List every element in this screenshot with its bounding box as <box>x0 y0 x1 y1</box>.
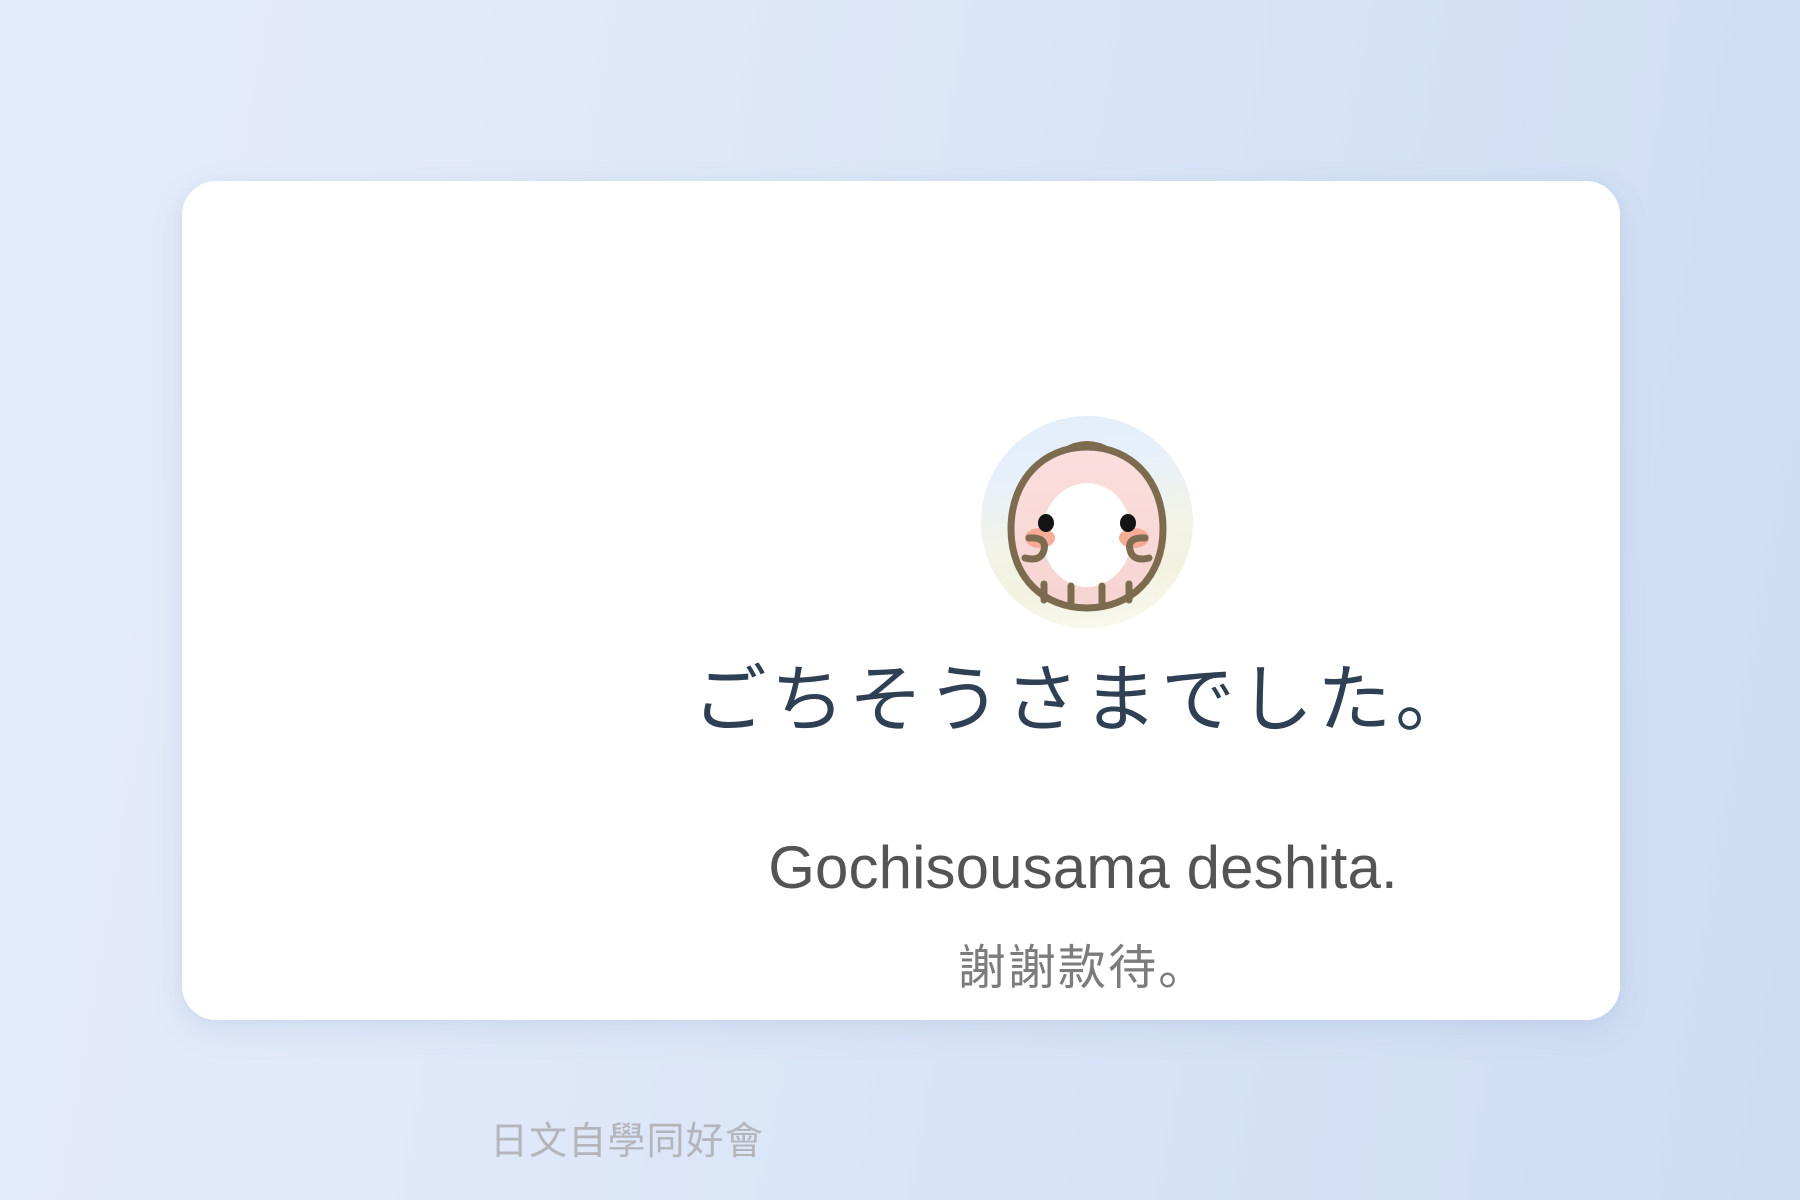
romaji-transliteration: Gochisousama deshita. <box>364 838 1800 898</box>
phrase-card: ごちそうさまでした。 Gochisousama deshita. 謝謝款待。 日… <box>182 181 1620 1020</box>
pink-blob-character-icon <box>981 416 1193 628</box>
avatar <box>981 416 1193 628</box>
eye-left <box>1038 514 1054 532</box>
japanese-phrase: ごちそうさまでした。 <box>364 663 1800 737</box>
eye-right <box>1120 514 1136 532</box>
tummy-highlight <box>1064 563 1110 585</box>
footer-brand-label: 日文自學同好會 <box>490 1123 764 1161</box>
flashcard-page: ごちそうさまでした。 Gochisousama deshita. 謝謝款待。 日… <box>0 0 1800 1200</box>
chinese-translation: 謝謝款待。 <box>364 945 1800 993</box>
